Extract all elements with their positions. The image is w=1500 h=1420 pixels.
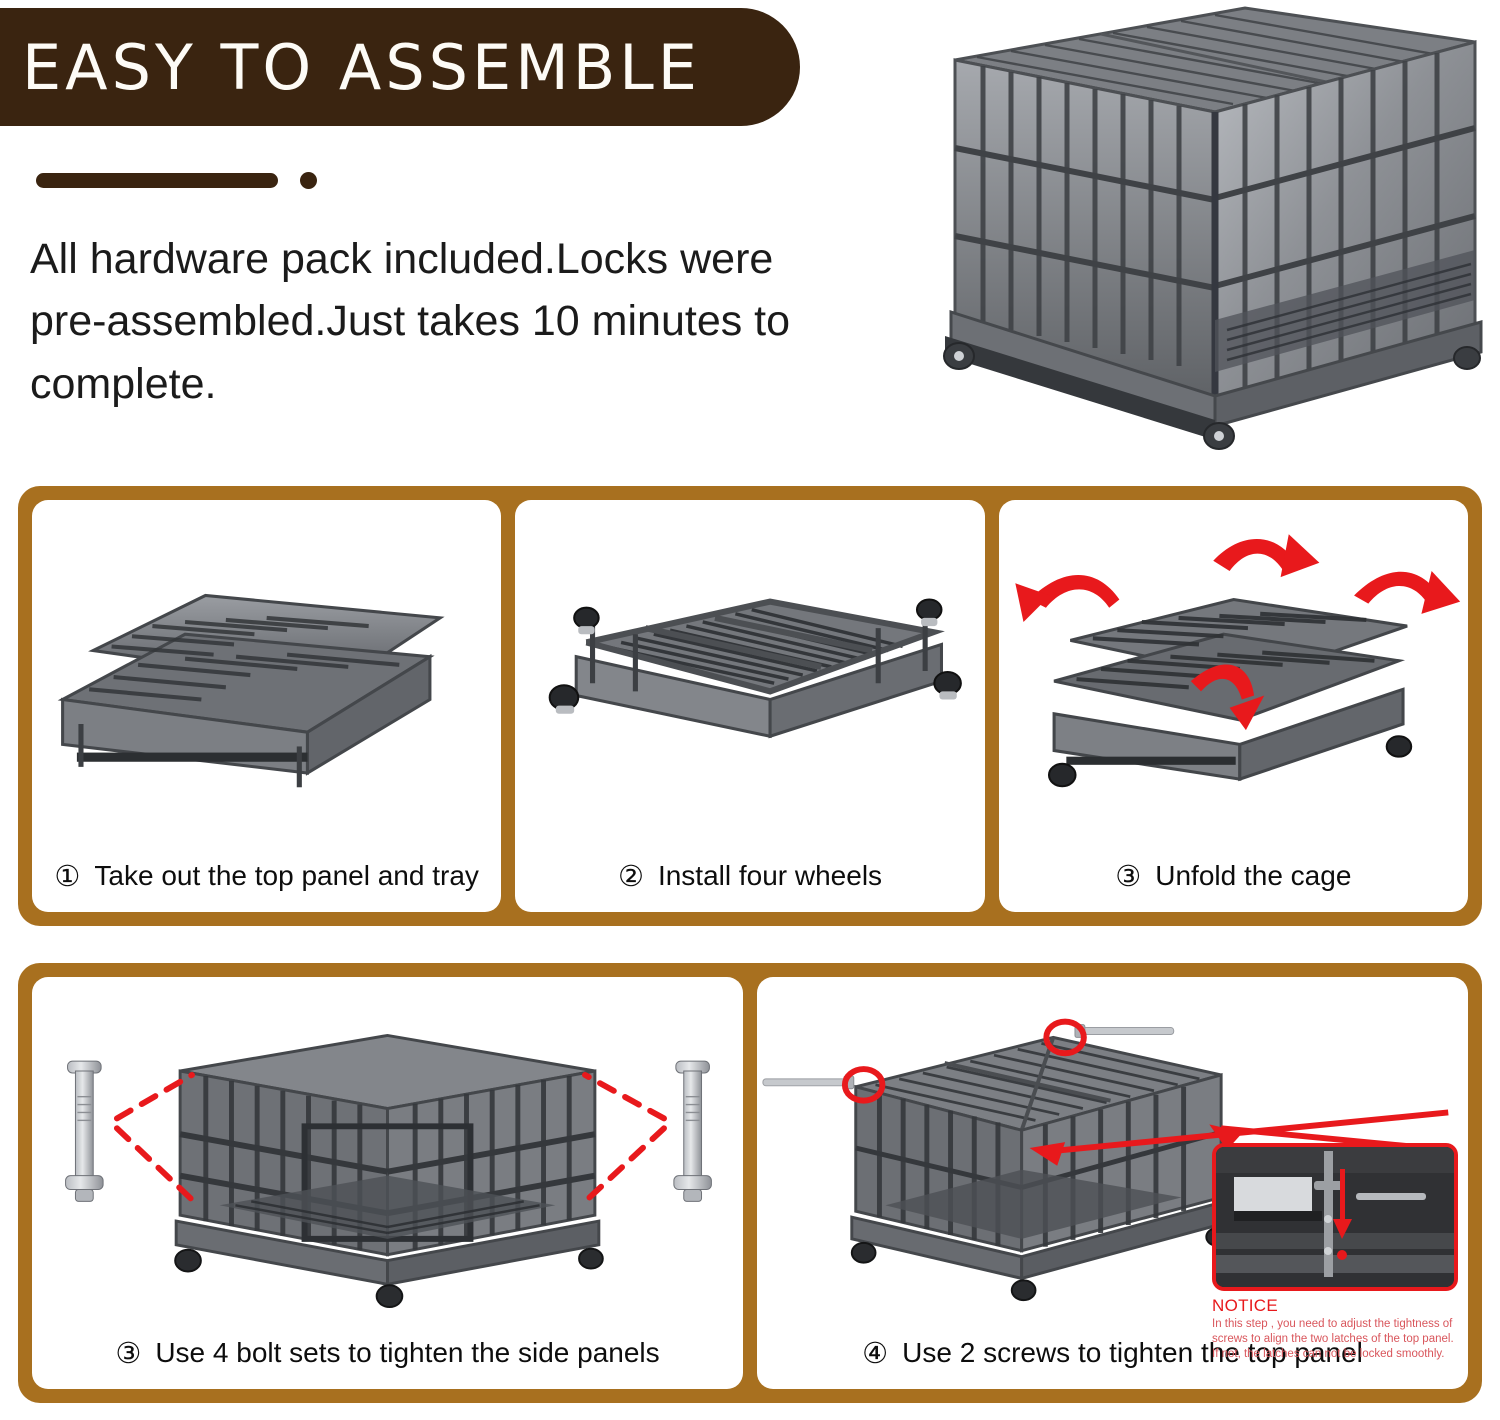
bolt-right <box>674 1061 712 1201</box>
step-2-caption: Install four wheels <box>658 860 882 892</box>
step-card-3: ③ Unfold the cage <box>999 500 1468 912</box>
step-4-illustration <box>32 977 743 1323</box>
step-3-illustration <box>999 500 1468 846</box>
step-4-caption-row: ③ Use 4 bolt sets to tighten the side pa… <box>32 1323 743 1389</box>
screw-right <box>1075 1025 1174 1038</box>
divider-rule <box>36 172 317 189</box>
step-5-number: ④ <box>862 1336 888 1371</box>
notice-body: In this step , you need to adjust the ti… <box>1212 1317 1458 1363</box>
step-1-number: ① <box>54 859 80 894</box>
title-banner: EASY TO ASSEMBLE <box>0 8 800 126</box>
step-1-illustration <box>32 500 501 846</box>
step-4-caption: Use 4 bolt sets to tighten the side pane… <box>155 1337 659 1369</box>
step-1-caption: Take out the top panel and tray <box>94 860 479 892</box>
step-2-illustration <box>515 500 984 846</box>
notice-title: NOTICE <box>1212 1296 1458 1316</box>
divider-bar-icon <box>36 173 278 188</box>
step-3-caption-row: ③ Unfold the cage <box>999 846 1468 912</box>
step-card-4: ③ Use 4 bolt sets to tighten the side pa… <box>32 977 743 1389</box>
step-1-caption-row: ① Take out the top panel and tray <box>32 846 501 912</box>
step-card-5: NOTICE In this step , you need to adjust… <box>757 977 1468 1389</box>
hero-product-image <box>915 0 1495 460</box>
step-2-number: ② <box>618 859 644 894</box>
page-title: EASY TO ASSEMBLE <box>22 31 701 104</box>
hero-section: EASY TO ASSEMBLE All hardware pack inclu… <box>0 0 1500 470</box>
bolt-left <box>66 1061 104 1201</box>
steps-row-bottom: ③ Use 4 bolt sets to tighten the side pa… <box>18 963 1482 1403</box>
latch-closeup-image <box>1212 1143 1458 1291</box>
step-4-number: ③ <box>115 1336 141 1371</box>
step-card-2: ② Install four wheels <box>515 500 984 912</box>
hero-description: All hardware pack included.Locks were pr… <box>30 228 820 415</box>
steps-row-top: ① Take out the top panel and tray <box>18 486 1482 926</box>
notice-inset: NOTICE In this step , you need to adjust… <box>1212 1143 1458 1381</box>
step-3-number: ③ <box>1115 859 1141 894</box>
step-card-1: ① Take out the top panel and tray <box>32 500 501 912</box>
step-3-caption: Unfold the cage <box>1155 860 1351 892</box>
divider-dot-icon <box>300 172 317 189</box>
screw-left <box>763 1076 854 1089</box>
step-2-caption-row: ② Install four wheels <box>515 846 984 912</box>
